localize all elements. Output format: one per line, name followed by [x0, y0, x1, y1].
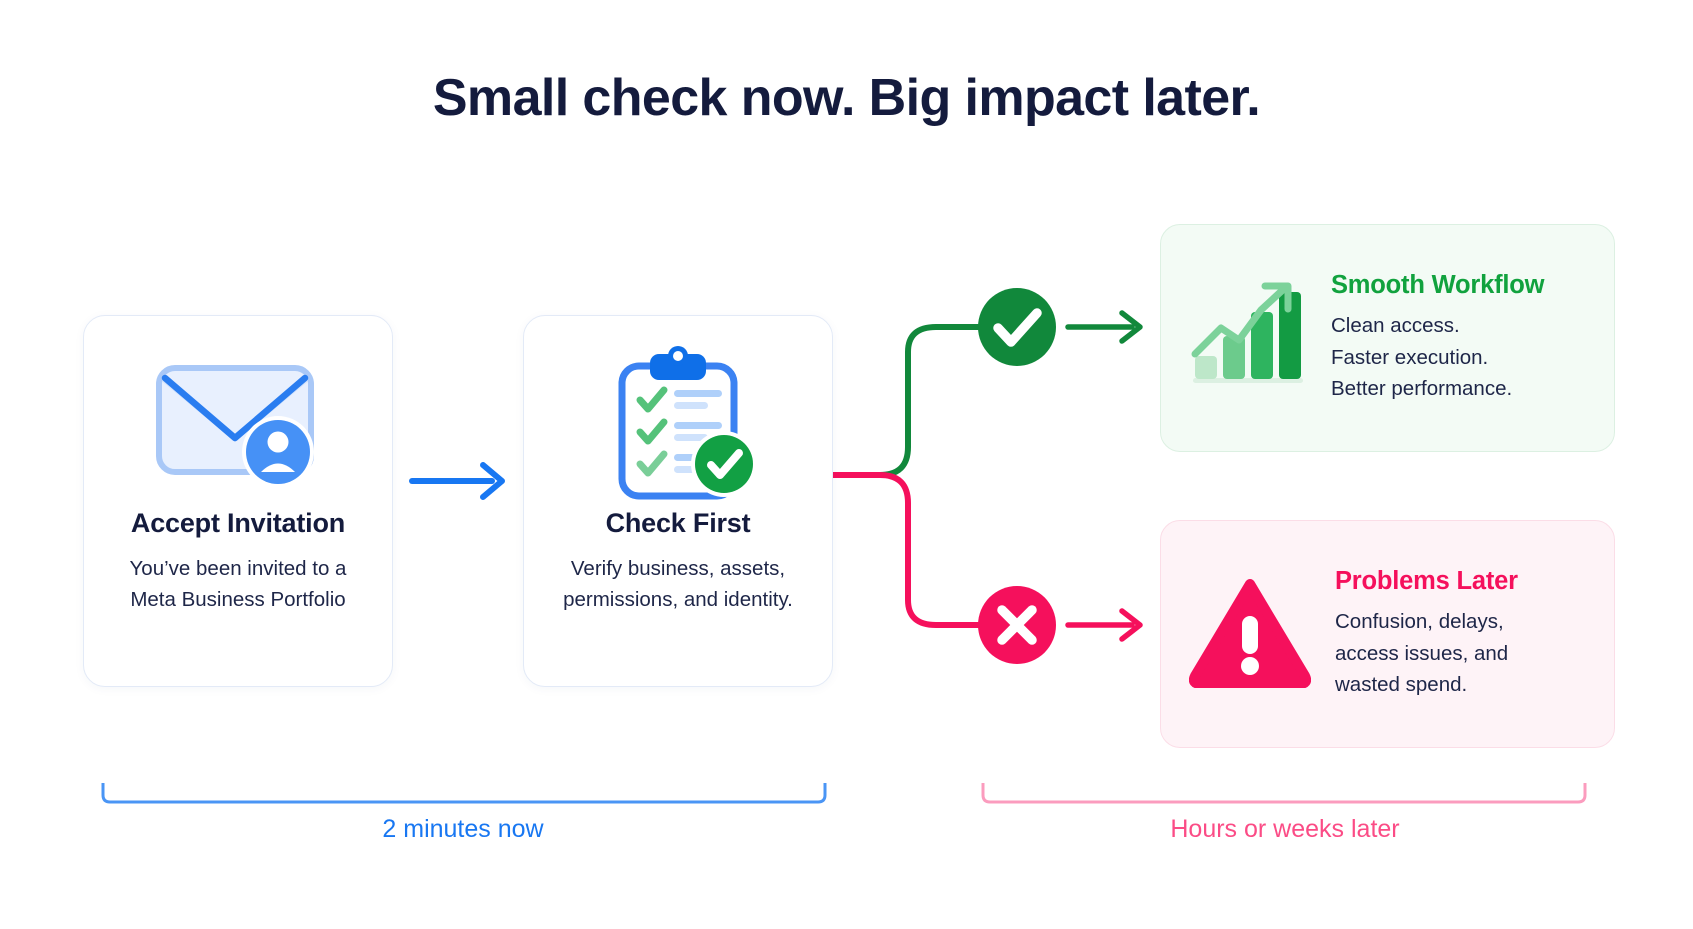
card-title: Check First [524, 508, 832, 539]
timeline-label-right: Hours or weeks later [975, 815, 1595, 844]
arrow-right-icon-green [1068, 313, 1140, 341]
outcome-title: Smooth Workflow [1331, 271, 1544, 300]
outcome-line: access issues, and [1335, 638, 1518, 670]
envelope-person-icon [84, 342, 392, 502]
outcome-card-smooth-workflow[interactable]: Smooth Workflow Clean access. Faster exe… [1160, 224, 1615, 452]
infographic-canvas: Small check now. Big impact later. [0, 0, 1693, 929]
outcome-text-block: Problems Later Confusion, delays, access… [1335, 567, 1518, 701]
x-circle-icon [978, 586, 1056, 664]
card-description-line: Verify business, assets, [524, 553, 832, 584]
card-description-line: Meta Business Portfolio [84, 584, 392, 615]
outcome-line: Faster execution. [1331, 342, 1544, 374]
outcome-text-block: Smooth Workflow Clean access. Faster exe… [1331, 271, 1544, 405]
arrow-right-icon-blue [412, 465, 502, 497]
timeline-bracket-left [103, 783, 825, 802]
card-description-line: permissions, and identity. [524, 584, 832, 615]
card-description: You’ve been invited to a Meta Business P… [84, 553, 392, 615]
step-card-accept-invitation[interactable]: Accept Invitation You’ve been invited to… [83, 315, 393, 687]
branch-connector-success [833, 327, 978, 475]
card-description-line: You’ve been invited to a [84, 553, 392, 584]
arrow-right-icon-crimson [1068, 611, 1140, 639]
outcome-line: Better performance. [1331, 373, 1544, 405]
check-circle-icon [978, 288, 1056, 366]
outcome-line: wasted spend. [1335, 669, 1518, 701]
outcome-line: Confusion, delays, [1335, 606, 1518, 638]
growth-bar-chart-icon [1189, 280, 1307, 397]
clipboard-check-icon [524, 342, 832, 507]
card-title: Accept Invitation [84, 508, 392, 539]
branch-connector-failure [833, 475, 978, 625]
outcome-line: Clean access. [1331, 310, 1544, 342]
card-description: Verify business, assets, permissions, an… [524, 553, 832, 615]
timeline-bracket-right [983, 783, 1585, 802]
outcome-card-problems-later[interactable]: Problems Later Confusion, delays, access… [1160, 520, 1615, 748]
timeline-label-left: 2 minutes now [100, 815, 826, 844]
outcome-title: Problems Later [1335, 567, 1518, 596]
page-title: Small check now. Big impact later. [0, 68, 1693, 128]
warning-triangle-icon [1189, 576, 1311, 693]
step-card-check-first[interactable]: Check First Verify business, assets, per… [523, 315, 833, 687]
